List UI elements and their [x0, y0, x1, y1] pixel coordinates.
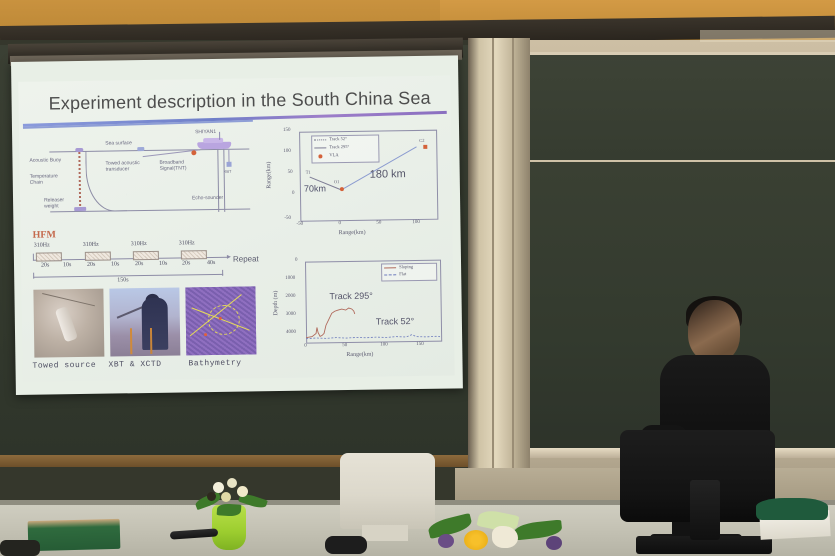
photo-caption-2: XBT & XCTD: [108, 360, 161, 370]
photo-towed-source: [33, 289, 104, 358]
field-photo-row: Towed source XBT & XCTD Bathymetry: [29, 286, 270, 380]
vessel-mast-icon: [219, 132, 220, 140]
tripod-detail: [130, 328, 152, 354]
photo-caption-3: Bathymetry: [188, 359, 241, 369]
beige-monitor-stand: [362, 525, 408, 541]
towed-transducer-icon: [137, 147, 144, 151]
bathy-xtick-50: 50: [342, 343, 347, 348]
acoustic-buoy-label: Acoustic Buoy: [29, 157, 61, 164]
hfm-timing-diagram: HFM 310Hz 310Hz 310Hz 310Hz 20s 10s 20s …: [28, 226, 259, 289]
vessel-deck-icon: [203, 138, 223, 143]
hfm-total-duration-label: 150s: [117, 277, 128, 283]
track-map-xaxis-title: Range(km): [339, 230, 366, 236]
page-title: Experiment description in the South Chin…: [48, 88, 430, 115]
photo-bathymetry: [185, 286, 256, 355]
photo-xbt-xctd: [109, 288, 180, 357]
desk-object-dark: [325, 536, 367, 554]
presentation-slide: Experiment description in the South Chin…: [18, 75, 454, 381]
hfm-span-tick-right: [222, 270, 223, 276]
annotation-track52: Track 52°: [376, 316, 414, 327]
arrangement-yellow-flower: [464, 530, 488, 550]
hfm-title: HFM: [32, 229, 55, 240]
chart-track-map: 150 100 50 0 -50 -50 0 50 100 Range(km) …: [271, 124, 448, 247]
legend-label-track52: Track 52°: [329, 136, 347, 141]
bathymetry-marker-2: [204, 333, 207, 336]
xbt-label: XBT: [224, 169, 232, 174]
chalkboard-upper-right: [530, 52, 835, 162]
arrangement-white-flower: [492, 526, 518, 548]
table-flower-arrangement: [418, 508, 578, 556]
green-cardboard-box: green-box: [28, 519, 121, 551]
legend-swatch-track295: [314, 147, 326, 148]
presenter-head: [688, 300, 740, 362]
hfm-freq-label-2: 310Hz: [83, 242, 99, 248]
bathy-xtick-0: 0: [304, 344, 307, 349]
bathy-ytick-4000: 4000: [286, 330, 296, 335]
ship-label: SHIYAN1: [195, 129, 216, 136]
bathy-ytick-0: 0: [295, 258, 298, 263]
flower-bouquet: [193, 470, 269, 518]
bouquet-leaf-3: [217, 503, 242, 517]
echo-sounder-label: Echo-sounder: [192, 195, 223, 202]
source-body-detail: [55, 306, 78, 342]
annotation-70km: 70km: [304, 183, 326, 193]
bouquet-center-dark: [207, 492, 216, 501]
pillar-seam-1: [492, 38, 494, 508]
sea-surface-label: Sea surface: [105, 140, 132, 147]
photo-caption-1: Towed source: [32, 361, 96, 371]
releaser-weight-label: Releaser weight: [44, 197, 64, 210]
towed-transducer-label: Towed acoustic transducer: [105, 160, 139, 173]
xbt-cable: [228, 149, 229, 163]
legend-swatch-track52: [314, 139, 326, 140]
legend-label-vla: VLA: [329, 152, 338, 157]
hfm-interval-3: 20s: [87, 262, 95, 268]
legend-swatch-vla: [318, 154, 322, 158]
hfm-freq-label-4: 310Hz: [179, 240, 195, 246]
echo-sounder-beam-1: [217, 149, 219, 212]
bathy-xaxis-title: Range(km): [346, 352, 373, 358]
annotation-o1: O1: [334, 179, 340, 184]
hfm-interval-8: 40s: [207, 260, 215, 266]
hfm-axis-arrow: [227, 255, 231, 259]
arrangement-purple-flower-2: [546, 536, 562, 550]
hfm-span-tick-left: [33, 273, 34, 279]
experiment-schematic: Sea surface SHIYAN1 Acoustic Buoy Temper…: [27, 128, 258, 221]
hfm-interval-1: 20s: [41, 262, 49, 268]
track-map-ytick--50: -50: [284, 216, 291, 221]
hfm-interval-6: 10s: [159, 261, 167, 267]
annotation-c2: C2: [419, 138, 424, 143]
desk-object-dark-2: [0, 540, 40, 556]
bouquet-flower-2: [227, 478, 237, 488]
track-map-ytick-50: 50: [288, 170, 293, 175]
light-strip: [700, 30, 835, 42]
bathy-xtick-100: 100: [380, 342, 388, 347]
hfm-pulse-1: [36, 252, 62, 261]
track-map-xtick-50: 50: [376, 221, 381, 226]
track-map-ytick-100: 100: [283, 149, 291, 154]
bathy-xtick-150: 150: [416, 342, 424, 347]
lecture-room-photo: Experiment description in the South Chin…: [0, 0, 835, 556]
legend-label-track295: Track 295°: [329, 144, 349, 149]
hfm-axis-origin-tick: [33, 254, 34, 261]
bathy-ytick-1000: 1000: [285, 276, 295, 281]
echo-sounder-beam-2: [223, 149, 225, 212]
bouquet-flower-1: [213, 482, 224, 493]
annotation-180km: 180 km: [370, 168, 406, 181]
chart-bathymetry-profile: 0 1000 2000 3000 4000 0 50 100 150 Range…: [273, 252, 450, 375]
bathymetry-marker-1: [219, 317, 222, 320]
annotation-t1: T1: [306, 170, 311, 175]
temperature-chain-icon: [78, 152, 81, 208]
xbt-icon: [227, 162, 232, 167]
track-map-xtick--50: -50: [296, 222, 303, 227]
track-map-xtick-0: 0: [338, 221, 341, 226]
c2-marker: [423, 145, 427, 149]
hfm-pulse-3: [133, 251, 159, 260]
bathy-ytick-2000: 2000: [285, 294, 295, 299]
wall-pillar: [468, 38, 530, 508]
hfm-interval-4: 10s: [111, 261, 119, 267]
hfm-interval-2: 10s: [63, 262, 71, 268]
broadband-source-icon: [191, 150, 196, 155]
bouquet-flower-4: [221, 492, 231, 502]
temperature-chain-label: Temperature Chain: [30, 173, 58, 186]
green-chair: [756, 498, 828, 520]
bathy-yaxis-title: Depth (m): [273, 291, 279, 316]
projection-screen: Experiment description in the South Chin…: [11, 55, 463, 395]
vla-marker: [340, 187, 344, 191]
hfm-freq-label-1: 310Hz: [34, 242, 50, 248]
track-map-xtick-100: 100: [412, 220, 420, 225]
hfm-interval-5: 20s: [135, 261, 143, 267]
track-map-yaxis-title: Range(km): [266, 162, 272, 189]
releaser-weight-icon: [74, 207, 86, 211]
camera-device: [690, 480, 720, 540]
bathy-ytick-3000: 3000: [286, 312, 296, 317]
rope-detail: [42, 293, 95, 306]
pillar-seam-2: [512, 38, 514, 508]
hfm-interval-7: 20s: [182, 260, 190, 266]
annotation-track295: Track 295°: [329, 291, 372, 302]
hfm-repeat-label: Repeat: [233, 254, 259, 263]
arrangement-purple-flower: [438, 534, 454, 548]
track-map-ytick-150: 150: [283, 128, 291, 133]
hfm-freq-label-3: 310Hz: [131, 241, 147, 247]
bouquet-flower-3: [237, 486, 248, 497]
track-map-ytick-0: 0: [292, 191, 295, 196]
hfm-pulse-4: [181, 250, 207, 259]
hfm-pulse-2: [85, 252, 111, 261]
broadband-signal-label: Broadband Signal(TNT): [159, 159, 186, 172]
